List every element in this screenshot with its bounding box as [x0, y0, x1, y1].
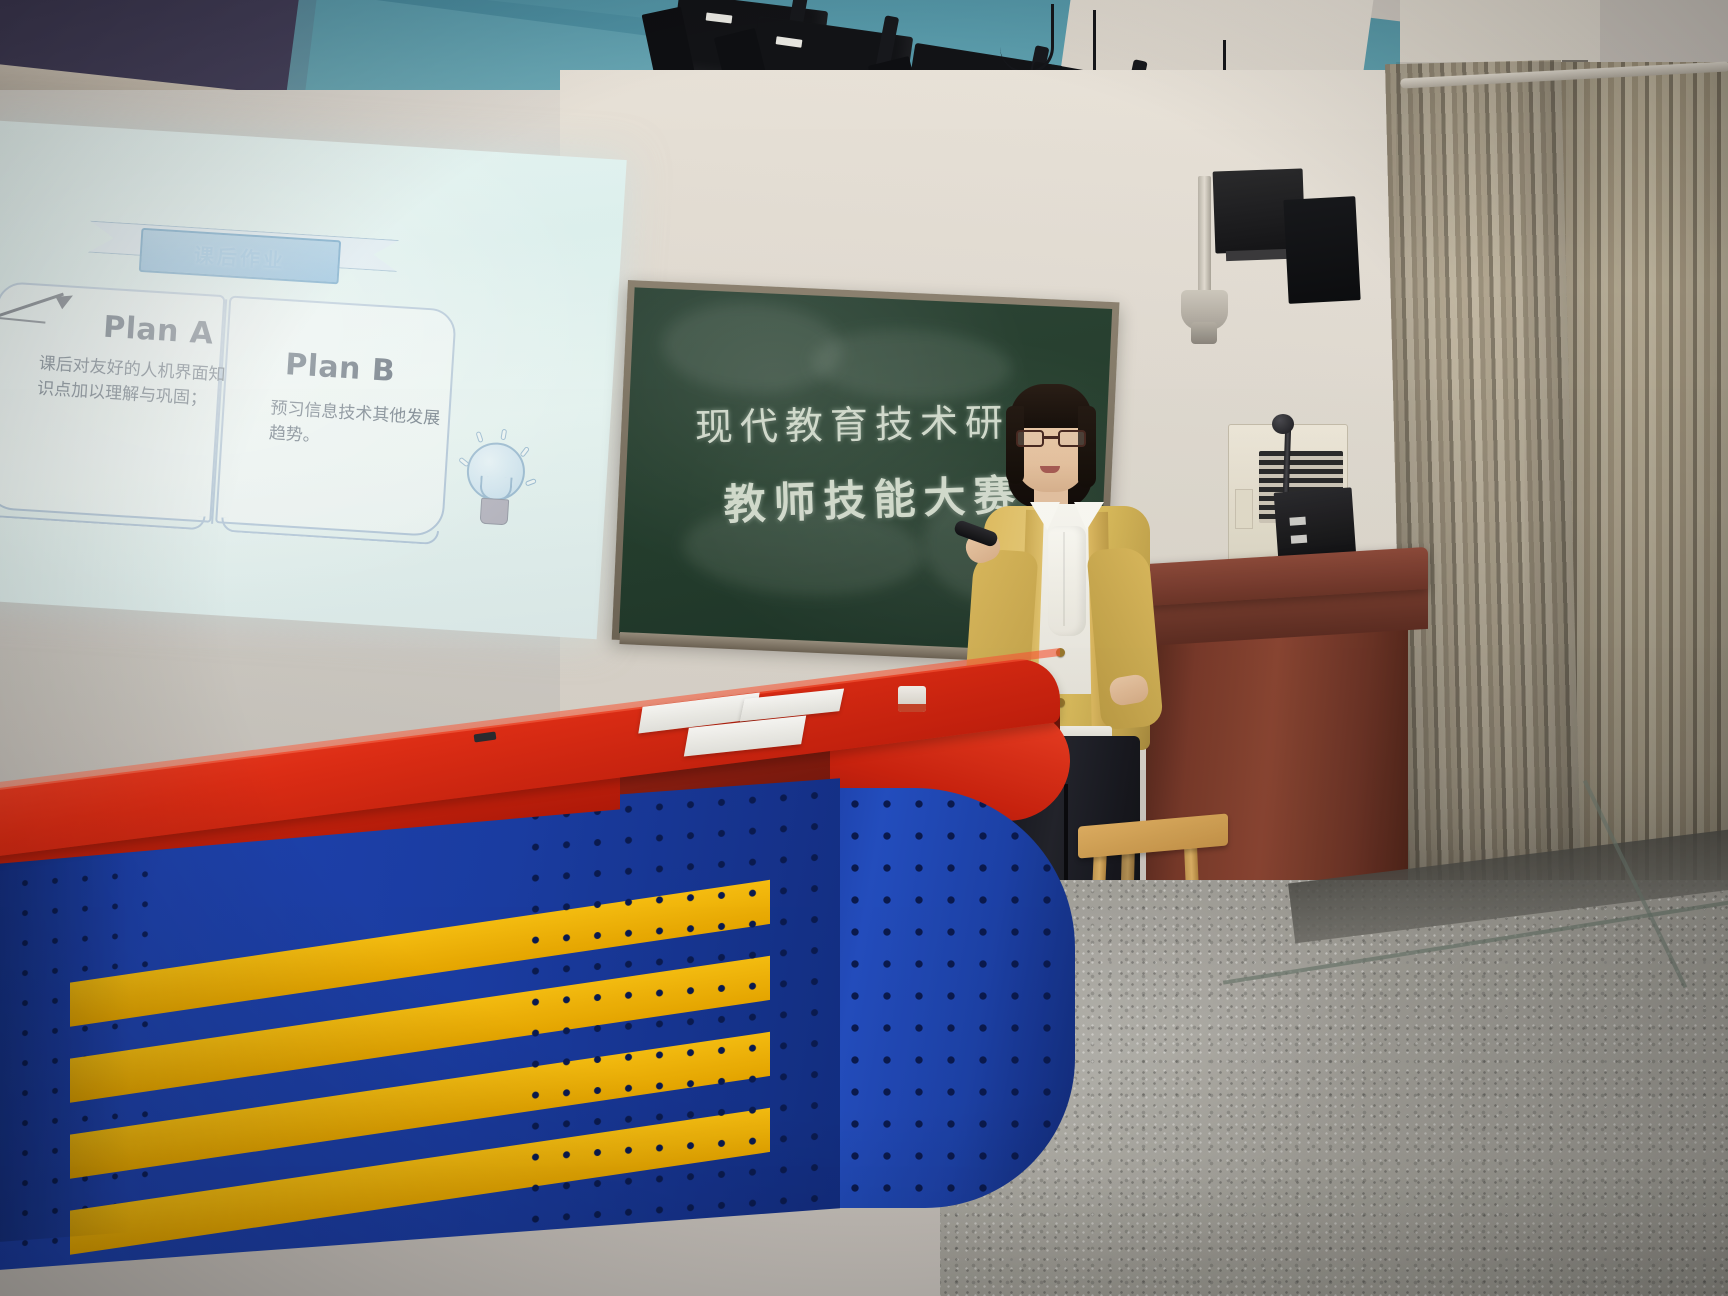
microphone-icon — [1272, 414, 1294, 434]
desk-shading — [0, 802, 130, 1247]
teacher-desk — [0, 660, 1140, 1296]
projector-glow — [0, 120, 627, 639]
wall-monitor — [1283, 196, 1360, 304]
camera-lens-icon — [1191, 322, 1217, 344]
photo-scene: 课后作业 Plan A 课后对友好的人机界面知识点加以理解与巩固； Plan B… — [0, 0, 1728, 1296]
ceiling-cable-1 — [1000, 4, 1054, 74]
blouse-ruffle — [1048, 526, 1086, 636]
glasses-icon — [1016, 430, 1088, 448]
curtain-right[interactable] — [1560, 62, 1728, 962]
ac-control-panel — [1235, 489, 1253, 529]
curtain-left[interactable] — [1385, 60, 1583, 964]
chalk-eraser[interactable] — [898, 686, 926, 712]
projection-screen: 课后作业 Plan A 课后对友好的人机界面知识点加以理解与巩固； Plan B… — [0, 120, 627, 639]
